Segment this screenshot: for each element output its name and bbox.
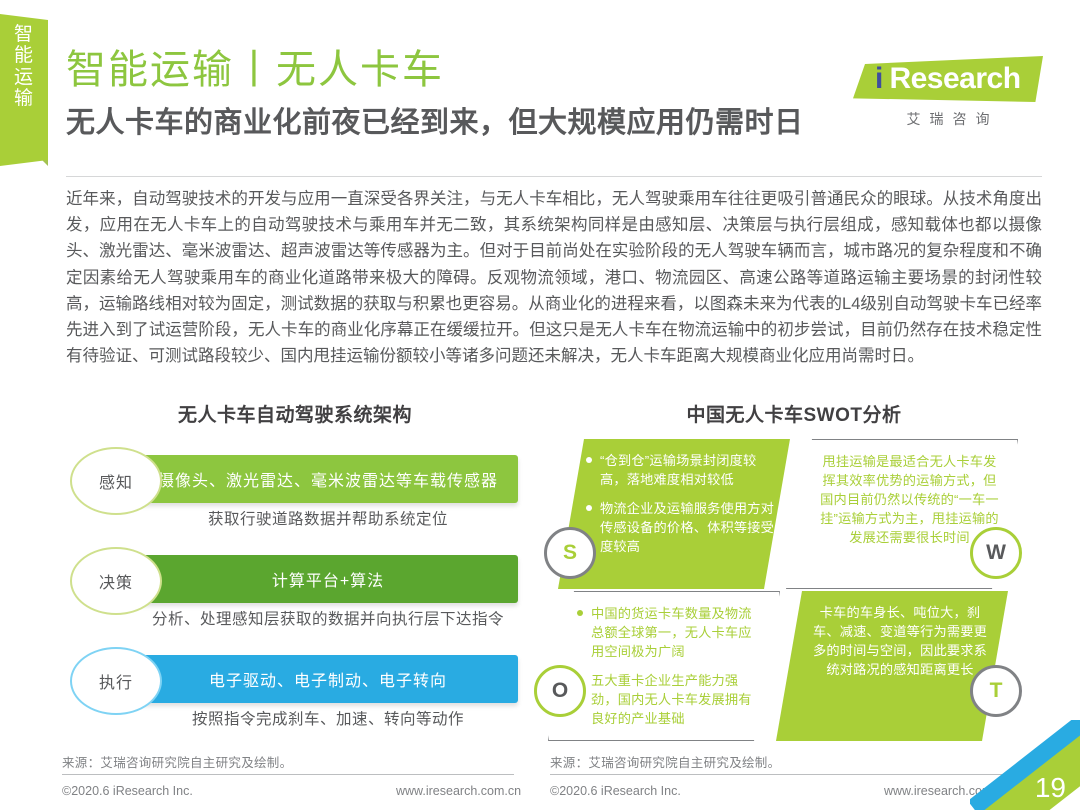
architecture-title: 无人卡车自动驾驶系统架构 (60, 400, 530, 427)
architecture-bar-perception: 摄像头、激光雷达、毫米波雷达等车载传感器 (138, 455, 518, 503)
architecture-layer-decision: 计算平台+算法 决策 分析、处理感知层获取的数据并向执行层下达指令 (60, 555, 530, 641)
logo-mark: i Research (853, 56, 1043, 102)
swot-item: 五大重卡企业生产能力强劲，国内无人卡车发展拥有良好的产业基础 (577, 671, 765, 728)
architecture-desc-decision: 分析、处理感知层获取的数据并向执行层下达指令 (138, 607, 518, 629)
swot-diagram: “仓到仓”运输场景封闭度较高，落地难度相对较低 物流企业及运输服务使用方对传感设… (548, 439, 1040, 751)
swot-item: 卡车的车身长、吨位大，刹车、减速、变道等行为需要更多的时间与空间，因此要求系统对… (810, 603, 990, 679)
body-paragraph: 近年来，自动驾驶技术的开发与应用一直深受各界关注，与无人卡车相比，无人驾驶乘用车… (66, 186, 1042, 369)
chapter-tab-char-1: 智 (0, 24, 48, 45)
copyright-left: ©2020.6 iResearch Inc. (62, 784, 193, 798)
architecture-circle-perception: 感知 (70, 447, 162, 515)
source-note-right: 来源：艾瑞咨询研究院自主研究及绘制。 (550, 752, 780, 771)
architecture-layer-execution: 电子驱动、电子制动、电子转向 执行 按照指令完成刹车、加速、转向等动作 (60, 655, 530, 741)
chapter-tab-char-2: 能 (0, 45, 48, 66)
chapter-tab-char-4: 输 (0, 88, 48, 109)
footer-divider-right (550, 774, 1002, 775)
architecture-layer-perception: 摄像头、激光雷达、毫米波雷达等车载传感器 感知 获取行驶道路数据并帮助系统定位 (60, 455, 530, 541)
footer-divider-left (62, 774, 514, 775)
chapter-tab-char-3: 运 (0, 67, 48, 88)
architecture-desc-perception: 获取行驶道路数据并帮助系统定位 (138, 507, 518, 529)
iresearch-logo: i Research 艾瑞咨询 (850, 56, 1046, 129)
architecture-desc-execution: 按照指令完成刹车、加速、转向等动作 (138, 707, 518, 729)
swot-quadrant-strength: “仓到仓”运输场景封闭度较高，落地难度相对较低 物流企业及运输服务使用方对传感设… (558, 439, 790, 589)
swot-badge-s: S (544, 527, 596, 579)
website-url-left[interactable]: www.iresearch.com.cn (396, 784, 521, 798)
swot-item: 甩挂运输是最适合无人卡车发挥其效率优势的运输方式，但国内目前仍然以传统的“一车一… (816, 452, 1003, 547)
header-divider (66, 176, 1042, 177)
swot-badge-o: O (534, 665, 586, 717)
copyright-right: ©2020.6 iResearch Inc. (550, 784, 681, 798)
swot-quadrant-opportunity: 中国的货运卡车数量及物流总额全球第一，无人卡车应用空间极为广阔 五大重卡企业生产… (548, 591, 780, 741)
page-number: 19 (1035, 772, 1066, 804)
source-note-left: 来源：艾瑞咨询研究院自主研究及绘制。 (62, 752, 292, 771)
swot-badge-t: T (970, 665, 1022, 717)
architecture-circle-decision: 决策 (70, 547, 162, 615)
swot-badge-w: W (970, 527, 1022, 579)
architecture-bar-execution: 电子驱动、电子制动、电子转向 (138, 655, 518, 703)
swot-panel: 中国无人卡车SWOT分析 “仓到仓”运输场景封闭度较高，落地难度相对较低 物流企… (548, 400, 1040, 751)
logo-wordmark: Research (853, 56, 1043, 102)
swot-quadrant-threat: 卡车的车身长、吨位大，刹车、减速、变道等行为需要更多的时间与空间，因此要求系统对… (776, 591, 1008, 741)
swot-title: 中国无人卡车SWOT分析 (548, 400, 1040, 427)
logo-chinese-name: 艾瑞咨询 (850, 109, 1046, 129)
chapter-tab: 智 能 运 输 (0, 14, 48, 166)
architecture-circle-execution: 执行 (70, 647, 162, 715)
architecture-panel: 无人卡车自动驾驶系统架构 摄像头、激光雷达、毫米波雷达等车载传感器 感知 获取行… (60, 400, 530, 741)
swot-item: “仓到仓”运输场景封闭度较高，落地难度相对较低 (586, 451, 776, 489)
architecture-bar-decision: 计算平台+算法 (138, 555, 518, 603)
swot-item: 物流企业及运输服务使用方对传感设备的价格、体积等接受度较高 (586, 499, 776, 556)
architecture-diagram: 摄像头、激光雷达、毫米波雷达等车载传感器 感知 获取行驶道路数据并帮助系统定位 … (60, 441, 530, 741)
swot-item: 中国的货运卡车数量及物流总额全球第一，无人卡车应用空间极为广阔 (577, 604, 765, 661)
